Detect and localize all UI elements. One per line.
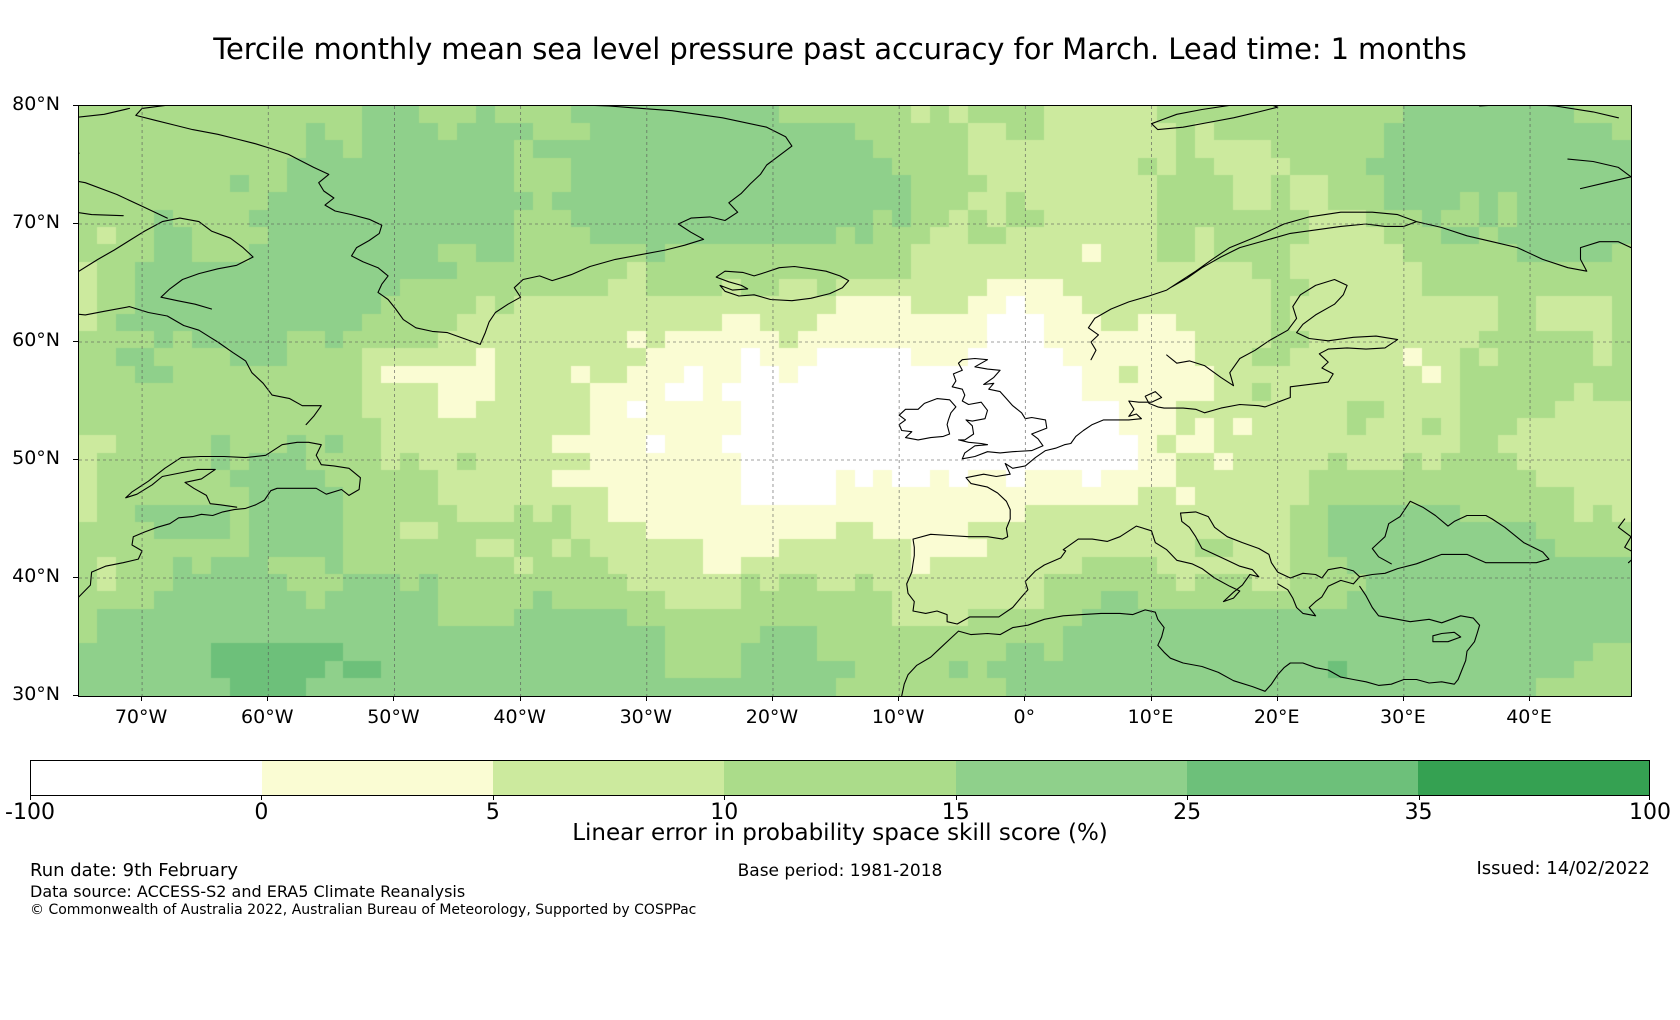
longitude-tick-mark [141, 696, 142, 701]
latitude-tick-mark [73, 223, 78, 224]
colorbar-segment [724, 761, 955, 795]
longitude-tick-label: 10°W [838, 706, 958, 728]
colorbar-tick-mark [493, 796, 494, 800]
map-axes[interactable] [78, 105, 1632, 697]
graticule-grid [79, 106, 1631, 696]
chart-title: Tercile monthly mean sea level pressure … [0, 32, 1680, 66]
longitude-tick-label: 0° [964, 706, 1084, 728]
latitude-tick-label: 50°N [0, 449, 60, 468]
colorbar-gradient[interactable] [30, 760, 1650, 796]
footer-copyright: © Commonwealth of Australia 2022, Austra… [30, 902, 696, 918]
longitude-tick-mark [393, 696, 394, 701]
colorbar-tick-mark [1187, 796, 1188, 800]
longitude-tick-mark [520, 696, 521, 701]
footer-data-source: Data source: ACCESS-S2 and ERA5 Climate … [30, 882, 465, 901]
colorbar-tick-mark [724, 796, 725, 800]
longitude-tick-label: 30°W [586, 706, 706, 728]
colorbar-tick-mark [30, 796, 31, 800]
colorbar-tick-mark [1419, 796, 1420, 800]
colorbar-segment [31, 761, 262, 795]
longitude-tick-label: 50°W [333, 706, 453, 728]
latitude-tick-label: 80°N [0, 95, 60, 114]
longitude-tick-mark [1529, 696, 1530, 701]
longitude-tick-mark [898, 696, 899, 701]
latitude-tick-mark [73, 105, 78, 106]
longitude-tick-label: 20°E [1217, 706, 1337, 728]
latitude-tick-mark [73, 695, 78, 696]
longitude-tick-label: 60°W [207, 706, 327, 728]
colorbar-segment [1418, 761, 1649, 795]
colorbar[interactable]: -1000510152535100 [30, 760, 1650, 796]
latitude-tick-mark [73, 341, 78, 342]
map-plot-area[interactable] [79, 106, 1631, 696]
latitude-tick-label: 60°N [0, 331, 60, 350]
longitude-tick-mark [1403, 696, 1404, 701]
colorbar-label: Linear error in probability space skill … [0, 820, 1680, 846]
latitude-tick-mark [73, 577, 78, 578]
footer-base-period: Base period: 1981-2018 [0, 861, 1680, 881]
colorbar-tick-mark [1649, 796, 1650, 800]
longitude-tick-mark [1024, 696, 1025, 701]
longitude-tick-mark [646, 696, 647, 701]
colorbar-tick-mark [956, 796, 957, 800]
latitude-tick-label: 70°N [0, 213, 60, 232]
longitude-tick-label: 30°E [1343, 706, 1463, 728]
figure-canvas: Tercile monthly mean sea level pressure … [0, 0, 1680, 1020]
latitude-tick-label: 30°N [0, 685, 60, 704]
longitude-tick-label: 40°W [460, 706, 580, 728]
colorbar-segment [262, 761, 493, 795]
longitude-tick-mark [1151, 696, 1152, 701]
longitude-tick-label: 10°E [1091, 706, 1211, 728]
longitude-tick-label: 70°W [81, 706, 201, 728]
longitude-tick-label: 20°W [712, 706, 832, 728]
colorbar-segment [956, 761, 1187, 795]
longitude-tick-mark [1277, 696, 1278, 701]
latitude-tick-label: 40°N [0, 567, 60, 586]
colorbar-tick-mark [261, 796, 262, 800]
longitude-tick-mark [772, 696, 773, 701]
footer-issued-date: Issued: 14/02/2022 [1476, 858, 1650, 879]
colorbar-segment [1187, 761, 1418, 795]
longitude-tick-label: 40°E [1469, 706, 1589, 728]
latitude-tick-mark [73, 459, 78, 460]
colorbar-segment [493, 761, 724, 795]
longitude-tick-mark [267, 696, 268, 701]
